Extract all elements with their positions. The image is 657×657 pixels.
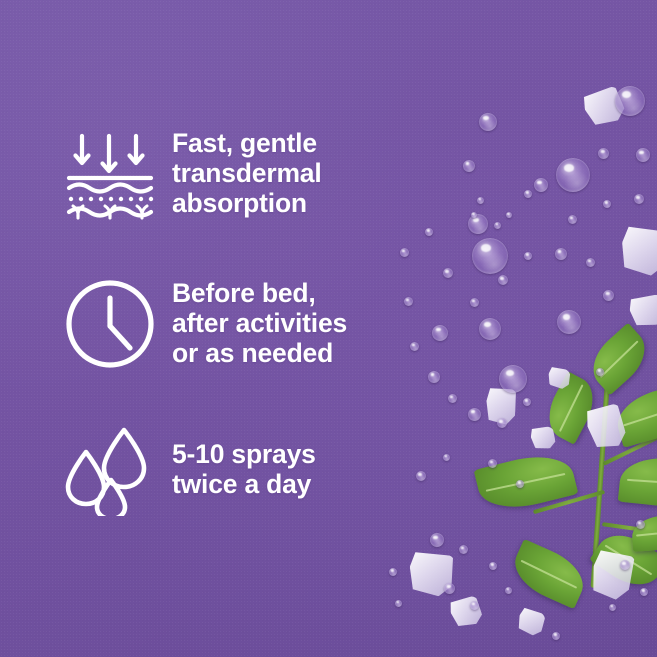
water-droplet [416, 471, 426, 481]
skin-absorption-icon [62, 128, 158, 220]
water-droplet [552, 632, 560, 640]
water-droplet [463, 160, 475, 172]
water-droplet [498, 275, 508, 285]
water-droplet [603, 290, 614, 301]
clock-icon [62, 278, 158, 370]
mint-leaf [631, 514, 657, 552]
water-droplet [404, 297, 413, 306]
water-droplet [471, 212, 477, 218]
water-droplet [568, 215, 577, 224]
water-droplet [516, 480, 524, 488]
water-droplet [488, 459, 497, 468]
water-droplet [389, 568, 397, 576]
water-droplet [477, 197, 484, 204]
water-droplet [557, 310, 581, 334]
water-droplet [479, 113, 497, 131]
water-droplet [470, 601, 479, 610]
feature-item-dosage: 5-10 sprays twice a day [62, 424, 316, 516]
feature-item-timing: Before bed, after activities or as neede… [62, 278, 347, 370]
water-droplet [468, 408, 481, 421]
water-droplet [636, 520, 645, 529]
water-droplet [636, 148, 650, 162]
water-droplet [459, 545, 468, 554]
feature-item-absorption: Fast, gentle transdermal absorption [62, 128, 322, 220]
water-droplet [506, 212, 512, 218]
water-droplet [444, 583, 455, 594]
infographic-canvas: Fast, gentle transdermal absorption Befo… [0, 0, 657, 657]
water-droplet [524, 252, 532, 260]
water-droplet [556, 158, 590, 192]
water-droplet [430, 533, 444, 547]
water-droplet [598, 148, 609, 159]
mint-leaf [582, 323, 656, 396]
water-droplet [472, 238, 508, 274]
water-droplet [470, 298, 479, 307]
water-droplet [497, 418, 507, 428]
water-droplet [400, 248, 409, 257]
water-droplet [425, 228, 433, 236]
water-droplet [603, 200, 611, 208]
water-droplet [443, 268, 453, 278]
water-droplet [640, 588, 648, 596]
water-droplet [505, 587, 512, 594]
mint-leaf [506, 539, 591, 609]
water-droplet [479, 318, 501, 340]
feature-list: Fast, gentle transdermal absorption Befo… [0, 0, 420, 657]
water-droplet [432, 325, 448, 341]
feature-label-dosage: 5-10 sprays twice a day [172, 440, 316, 500]
water-droplet [410, 342, 419, 351]
water-droplet [443, 454, 450, 461]
water-droplet [523, 398, 531, 406]
water-droplet [499, 365, 527, 393]
water-droplets-icon [62, 424, 158, 516]
feature-label-timing: Before bed, after activities or as neede… [172, 279, 347, 369]
water-droplet [634, 194, 644, 204]
water-droplet [609, 604, 616, 611]
water-droplet [448, 394, 457, 403]
water-droplet [428, 371, 440, 383]
water-droplet [395, 600, 402, 607]
water-droplet [489, 562, 497, 570]
water-droplet [524, 190, 532, 198]
water-droplet [596, 368, 604, 376]
mint-leaf [618, 454, 657, 511]
water-droplet [620, 560, 630, 570]
water-droplet [534, 178, 548, 192]
water-droplet [615, 86, 645, 116]
water-droplet [494, 222, 501, 229]
water-droplet [555, 248, 567, 260]
feature-label-absorption: Fast, gentle transdermal absorption [172, 129, 322, 219]
water-droplet [586, 258, 595, 267]
mint-leaf [474, 447, 579, 517]
